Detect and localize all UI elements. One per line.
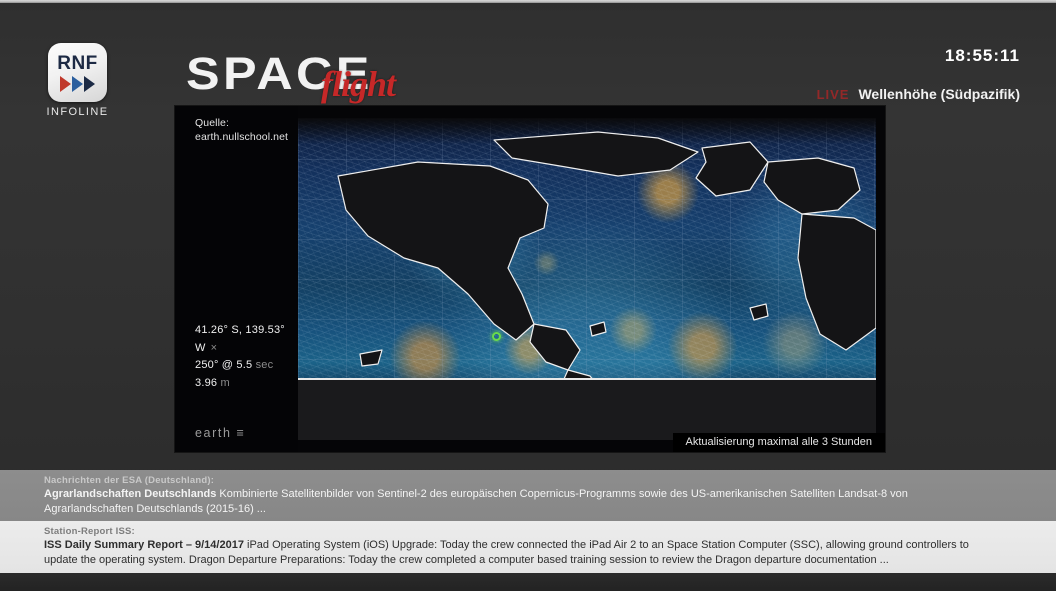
readout-direction-speed: 250° @ 5.5 (195, 359, 252, 371)
readout-direction-unit: sec (256, 359, 274, 371)
news-ticker-esa: Nachrichten der ESA (Deutschland): Agrar… (0, 470, 1056, 521)
news-ticker-esa-headline: Agrarlandschaften Deutschlands (44, 488, 216, 500)
news-ticker-iss-body: ISS Daily Summary Report – 9/14/2017 iPa… (0, 537, 1056, 567)
header-bar: RNF INFOLINE SPACE flight 18:55:11 LIVE … (0, 3, 1056, 108)
subtitle-row: LIVE Wellenhöhe (Südpazifik) (817, 86, 1020, 102)
map-panel: Quelle: earth.nullschool.net 41.26° S, 1… (175, 106, 885, 452)
news-ticker-esa-label: Nachrichten der ESA (Deutschland): (0, 470, 1056, 486)
brand-main-text: SPACE (186, 49, 444, 99)
source-attribution: Quelle: earth.nullschool.net (195, 117, 288, 144)
earth-menu[interactable]: earth≡ (195, 426, 245, 440)
antarctica-landmass (298, 378, 876, 440)
hamburger-menu-icon[interactable]: ≡ (237, 426, 246, 440)
readout-height-unit: m (220, 377, 229, 389)
rnf-triangles-icon (60, 76, 95, 92)
source-label: Quelle: (195, 117, 288, 131)
news-ticker-iss-label: Station-Report ISS: (0, 521, 1056, 537)
rnf-logo: RNF (48, 43, 107, 102)
play-triangle-red-icon (60, 76, 71, 92)
news-ticker-esa-body: Agrarlandschaften Deutschlands Kombinier… (0, 486, 1056, 516)
brand-accent-text: flight (321, 63, 395, 105)
rnf-logo-text: RNF (57, 54, 98, 73)
segment-title: Wellenhöhe (Südpazifik) (858, 86, 1020, 102)
readout-wave-height: 3.96 (195, 377, 217, 389)
readout-coordinates: 41.26° S, 139.53° W (195, 324, 285, 354)
point-readout: 41.26° S, 139.53° W× 250° @ 5.5 sec 3.96… (195, 322, 298, 392)
close-icon[interactable]: × (211, 342, 218, 354)
readout-height-row: 3.96 m (195, 375, 298, 393)
play-triangle-blue-icon (72, 76, 83, 92)
wave-height-map[interactable] (298, 118, 876, 440)
clock: 18:55:11 (945, 46, 1020, 66)
source-value: earth.nullschool.net (195, 131, 288, 145)
play-triangle-navy-icon (84, 76, 95, 92)
live-badge: LIVE (817, 87, 850, 102)
readout-coordinates-row: 41.26° S, 139.53° W× (195, 322, 298, 357)
station-caption: INFOLINE (40, 106, 115, 118)
show-brand: SPACE flight (186, 49, 416, 101)
broadcast-screen: RNF INFOLINE SPACE flight 18:55:11 LIVE … (0, 0, 1056, 591)
news-ticker-iss: Station-Report ISS: ISS Daily Summary Re… (0, 521, 1056, 573)
news-ticker-iss-headline: ISS Daily Summary Report – 9/14/2017 (44, 539, 244, 551)
map-sidebar: Quelle: earth.nullschool.net 41.26° S, 1… (175, 106, 298, 452)
update-interval-note: Aktualisierung maximal alle 3 Stunden (673, 433, 886, 452)
readout-direction-row: 250° @ 5.5 sec (195, 357, 298, 375)
earth-label: earth (195, 426, 232, 440)
